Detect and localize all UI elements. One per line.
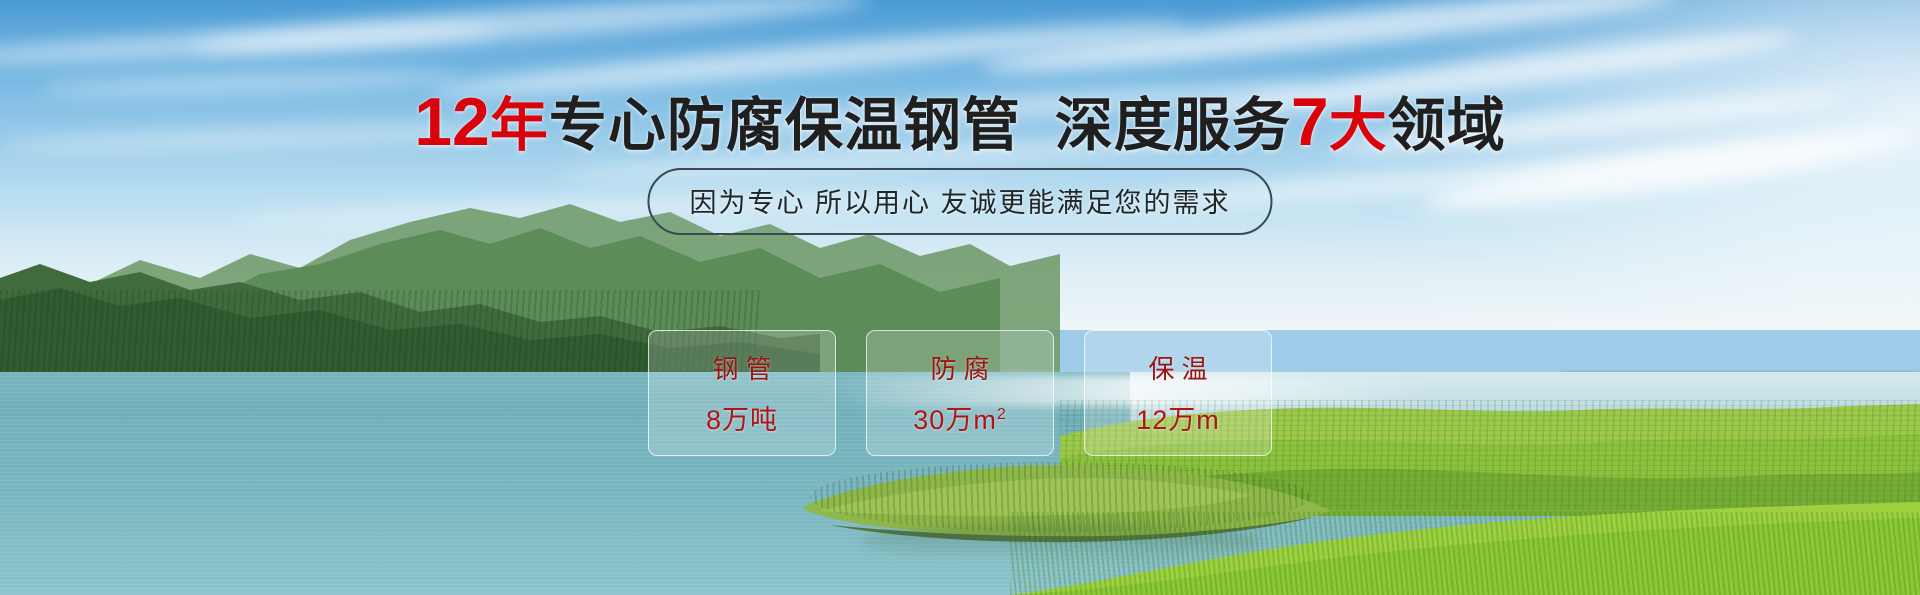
stat-card-value: 8万吨 (706, 398, 778, 437)
stat-card-label: 防腐 (923, 349, 996, 386)
stat-card-list: 钢管 8万吨 防腐 30万m2 保温 12万m (648, 330, 1272, 456)
stat-card-label: 钢管 (705, 349, 778, 386)
stat-card-label: 保温 (1141, 349, 1214, 386)
stat-value-superscript: 2 (997, 406, 1007, 423)
stat-card-value: 12万m (1136, 398, 1220, 437)
stat-value-base: 30万m (913, 405, 997, 435)
headline-fields-word: 领域 (1388, 93, 1506, 158)
stat-value-base: 8万吨 (706, 405, 778, 435)
headline-fields-measure: 大 (1329, 93, 1388, 158)
stat-card-insulation[interactable]: 保温 12万m (1084, 330, 1272, 456)
headline-main-phrase: 专心防腐保温钢管 (549, 93, 1021, 158)
stat-card-steel-pipe[interactable]: 钢管 8万吨 (648, 330, 836, 456)
grass-texture (1010, 512, 1920, 595)
headline: 12年专心防腐保温钢管深度服务7大领域 (0, 78, 1920, 162)
headline-years-number: 12 (414, 84, 490, 160)
stat-card-value: 30万m2 (913, 398, 1006, 437)
stat-value-base: 12万m (1136, 405, 1220, 435)
promotional-banner: 12年专心防腐保温钢管深度服务7大领域 因为专心 所以用心 友诚更能满足您的需求… (0, 0, 1920, 595)
headline-years-unit: 年 (490, 93, 549, 158)
subtitle-text: 因为专心 所以用心 友诚更能满足您的需求 (689, 188, 1230, 218)
stat-card-anticorrosion[interactable]: 防腐 30万m2 (866, 330, 1054, 456)
headline-fields-number: 7 (1291, 84, 1329, 160)
headline-service-phrase: 深度服务 (1055, 93, 1291, 158)
subtitle-pill: 因为专心 所以用心 友诚更能满足您的需求 (647, 168, 1272, 235)
